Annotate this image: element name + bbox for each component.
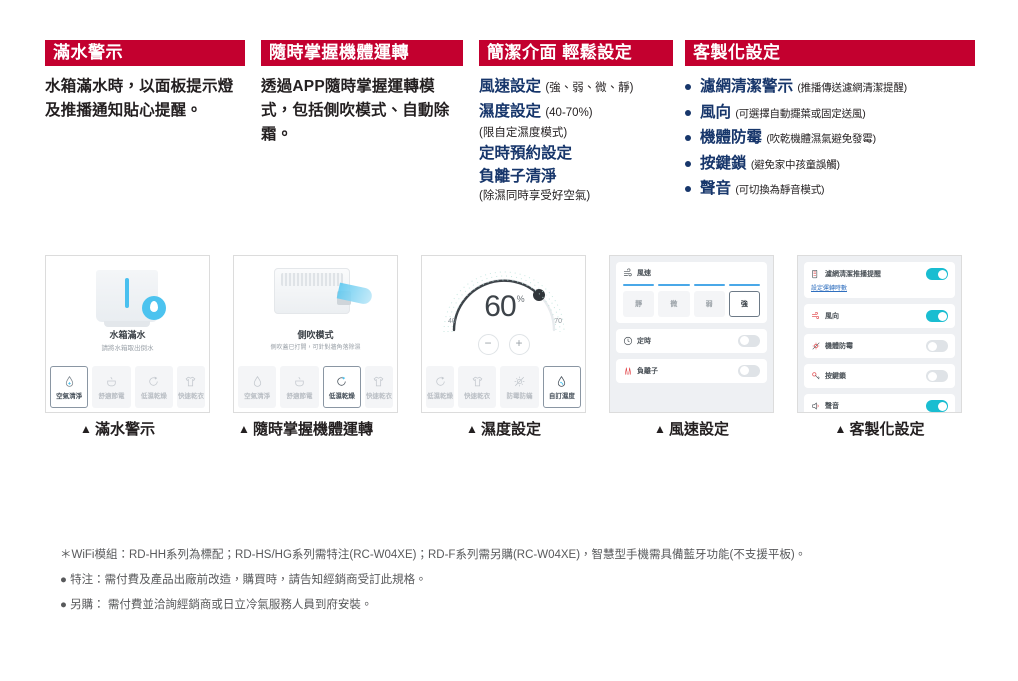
feature-description: 水箱滿水時，以面板提示燈及推播通知貼心提醒。 <box>45 75 245 123</box>
humidity-stepper: − + <box>422 334 585 355</box>
feature-body: 水箱滿水時，以面板提示燈及推播通知貼心提醒。 <box>45 75 245 123</box>
caption-label: 風速設定 <box>669 421 729 438</box>
feature-column-overflow-alert: 滿水警示 水箱滿水時，以面板提示燈及推播通知貼心提醒。 <box>45 40 245 205</box>
anti-mold-toggle[interactable] <box>926 340 948 352</box>
app-screen-fan-speed: 風速 靜 微 弱 強 定時 <box>609 255 774 413</box>
card-caption-tank-full: ▲滿水警示 <box>35 418 200 439</box>
mode-label: 低濕乾燥 <box>141 390 167 400</box>
water-level-indicator <box>125 278 129 308</box>
list-item: 定時預約設定 <box>479 142 673 165</box>
key-lock-label-group: 按鍵鎖 <box>811 371 846 381</box>
key-lock-row: 按鍵鎖 <box>811 370 948 382</box>
caption-label: 滿水警示 <box>95 421 155 438</box>
mode-button-fast-dry[interactable]: 快速乾衣 <box>365 366 393 408</box>
sound-panel: 聲音 <box>804 394 955 413</box>
feature-title-bar: 客製化設定 <box>685 40 975 66</box>
triangle-marker-icon: ▲ <box>80 422 92 436</box>
ion-icon <box>623 366 633 376</box>
screen-title: 水箱滿水 <box>46 328 209 341</box>
speed-button-low[interactable]: 弱 <box>694 291 725 317</box>
triangle-marker-icon: ▲ <box>835 422 847 436</box>
clock-icon <box>623 336 633 346</box>
unit-grill <box>281 273 343 286</box>
mode-button-bar: 低濕乾燥 快速乾衣 防霉防蟎 <box>422 366 585 408</box>
speed-track <box>623 284 760 286</box>
ion-label-group: 負離子 <box>623 366 658 376</box>
item-label: 聲音 <box>700 180 731 197</box>
feature-columns: 滿水警示 水箱滿水時，以面板提示燈及推播通知貼心提醒。 隨時掌握機體運轉 透過A… <box>45 40 985 205</box>
wind-label: 風向 <box>825 311 839 321</box>
screen-subtitle: 側吹蓋已打開，可針對牆角落除濕 <box>234 342 397 351</box>
shirt-icon <box>184 375 197 388</box>
sound-toggle[interactable] <box>926 400 948 412</box>
filter-reminder-toggle[interactable] <box>926 268 948 280</box>
dry-swirl-icon <box>434 375 447 388</box>
triangle-marker-icon: ▲ <box>654 422 666 436</box>
screen-title: 側吹模式 <box>234 328 397 341</box>
mode-label: 快速乾衣 <box>464 390 490 400</box>
speed-button-breeze[interactable]: 微 <box>658 291 689 317</box>
mode-label: 低濕乾燥 <box>427 390 453 400</box>
ion-toggle[interactable] <box>738 365 760 377</box>
mode-button-fast-dry[interactable]: 快速乾衣 <box>177 366 205 408</box>
shirt-icon <box>471 375 484 388</box>
filter-reminder-row: 濾網清潔推播提醒 <box>811 268 948 280</box>
fan-speed-header: 風速 <box>623 268 760 278</box>
wind-direction-toggle[interactable] <box>926 310 948 322</box>
humidity-increase-button[interactable]: + <box>509 334 530 355</box>
timer-label: 定時 <box>637 336 651 346</box>
timer-toggle[interactable] <box>738 335 760 347</box>
feature-column-remote-monitor: 隨時掌握機體運轉 透過APP隨時掌握運轉模式，包括側吹模式、自動除霜。 <box>261 40 463 205</box>
sound-label-group: 聲音 <box>811 401 839 411</box>
sound-label: 聲音 <box>825 401 839 411</box>
card-caption-humidity: ▲濕度設定 <box>421 418 586 439</box>
mode-button-custom-humidity[interactable]: 自訂濕度 <box>543 366 581 408</box>
list-item: 聲音 (可切換為靜音模式) <box>685 177 975 203</box>
mode-label: 舒適節電 <box>98 390 124 400</box>
key-lock-panel: 按鍵鎖 <box>804 364 955 388</box>
mode-label: 快速乾衣 <box>178 390 204 400</box>
feature-title-bar: 滿水警示 <box>45 40 245 66</box>
humidity-dial[interactable]: 60% 40 70 <box>436 262 572 338</box>
item-note: (40-70%) <box>545 107 592 119</box>
list-item-note: (限自定濕度模式) <box>479 125 673 142</box>
ion-row: 負離子 <box>623 365 760 377</box>
speed-button-silent[interactable]: 靜 <box>623 291 654 317</box>
item-label: 負離子清淨 <box>479 168 557 185</box>
wind-direction-row: 風向 <box>811 310 948 322</box>
item-label: 定時預約設定 <box>479 145 572 162</box>
mode-button-air-clean[interactable]: 空氣清淨 <box>50 366 88 408</box>
wind-icon <box>811 311 821 321</box>
key-lock-icon <box>811 371 821 381</box>
mode-label: 舒適節電 <box>286 390 312 400</box>
feature-title-bar: 簡潔介面 輕鬆設定 <box>479 40 673 66</box>
filter-label-group: 濾網清潔推播提醒 <box>811 269 881 279</box>
item-note: (可切換為靜音模式) <box>735 184 824 196</box>
list-item-note: (除濕同時享受好空氣) <box>479 188 673 205</box>
fan-speed-label: 風速 <box>637 268 651 278</box>
mode-button-air-clean[interactable]: 空氣清淨 <box>238 366 276 408</box>
anti-mold-row: 機體防霉 <box>811 340 948 352</box>
tank-illustration: 水箱滿水 請將水箱取出倒水 <box>46 256 209 361</box>
item-note: (可選擇自動擺葉或固定送風) <box>735 108 865 120</box>
footnote-special-order: ● 特注：需付費及產品出廠前改造，購買時，請告知經銷商受訂此規格。 <box>60 568 990 593</box>
footnote-separate-purchase: ● 另購： 需付費並洽詢經銷商或日立冷氣服務人員到府安裝。 <box>60 593 990 618</box>
mode-button-eco[interactable]: 舒適節電 <box>92 366 130 408</box>
list-item: 機體防霉 (吹乾機體濕氣避免發霉) <box>685 126 975 152</box>
filter-label: 濾網清潔推播提醒 <box>825 269 881 279</box>
key-lock-label: 按鍵鎖 <box>825 371 846 381</box>
list-item: 濾網清潔警示 (推播傳送濾網清潔提醒) <box>685 75 975 101</box>
anti-mold-icon <box>513 375 526 388</box>
list-item: 按鍵鎖 (避免家中孩童誤觸) <box>685 152 975 178</box>
triangle-marker-icon: ▲ <box>238 422 250 436</box>
caption-label: 客製化設定 <box>849 421 924 438</box>
mode-button-low-humidity[interactable]: 低濕乾燥 <box>426 366 454 408</box>
timer-label-group: 定時 <box>623 336 651 346</box>
key-lock-toggle[interactable] <box>926 370 948 382</box>
dry-swirl-icon <box>147 375 160 388</box>
list-item: 風速設定 (強、弱、微、靜) <box>479 75 673 100</box>
sound-row: 聲音 <box>811 400 948 412</box>
humidity-dial-area: 60% 40 70 − + <box>422 256 585 368</box>
list-item: 風向 (可選擇自動擺葉或固定送風) <box>685 101 975 127</box>
wind-label-group: 風向 <box>811 311 839 321</box>
mode-button-fast-dry[interactable]: 快速乾衣 <box>458 366 496 408</box>
humidity-unit: % <box>517 294 524 304</box>
card-caption-custom-settings: ▲客製化設定 <box>797 418 962 439</box>
mode-label: 快速乾衣 <box>366 390 392 400</box>
feature-column-custom-settings: 客製化設定 濾網清潔警示 (推播傳送濾網清潔提醒) 風向 (可選擇自動擺葉或固定… <box>685 40 975 205</box>
mode-button-anti-mold[interactable]: 防霉防蟎 <box>500 366 538 408</box>
mode-label: 空氣清淨 <box>56 390 82 400</box>
mode-label: 低濕乾燥 <box>329 390 355 400</box>
speed-button-high[interactable]: 強 <box>729 291 760 317</box>
feature-body: 透過APP隨時掌握運轉模式，包括側吹模式、自動除霜。 <box>261 75 463 147</box>
mode-button-eco[interactable]: 舒適節電 <box>280 366 318 408</box>
caption-label: 濕度設定 <box>481 421 541 438</box>
app-screen-humidity: 60% 40 70 − + 低濕乾燥 <box>421 255 586 413</box>
dial-max-label: 70 <box>554 318 562 325</box>
filter-reminder-panel: 濾網清潔推播提醒 設定運轉時數 <box>804 262 955 298</box>
anti-mold-label: 機體防霉 <box>825 341 853 351</box>
ion-panel: 負離子 <box>616 359 767 383</box>
wind-direction-panel: 風向 <box>804 304 955 328</box>
app-screen-tank-full: 水箱滿水 請將水箱取出倒水 空氣清淨 舒適節電 <box>45 255 210 413</box>
app-screenshot-row: 水箱滿水 請將水箱取出倒水 空氣清淨 舒適節電 <box>45 255 990 455</box>
shirt-icon <box>372 375 385 388</box>
water-drop-badge-icon <box>142 296 166 320</box>
anti-mold-panel: 機體防霉 <box>804 334 955 358</box>
item-label: 濕度設定 <box>479 103 541 120</box>
item-label: 風速設定 <box>479 78 541 95</box>
footnote-wifi: ＊WiFi模組：RD-HH系列為標配；RD-HS/HG系列需特注(RC-W04X… <box>60 543 990 568</box>
mode-button-bar: 空氣清淨 舒適節電 低濕乾燥 <box>46 366 209 408</box>
list-item: 負離子清淨 <box>479 165 673 188</box>
page-root: 滿水警示 水箱滿水時，以面板提示燈及推播通知貼心提醒。 隨時掌握機體運轉 透過A… <box>0 0 1018 681</box>
item-note: (避免家中孩童誤觸) <box>751 159 840 171</box>
dry-swirl-icon <box>335 375 348 388</box>
anti-mold-label-group: 機體防霉 <box>811 341 853 351</box>
item-label: 濾網清潔警示 <box>700 78 793 95</box>
speed-buttons: 靜 微 弱 強 <box>623 291 760 317</box>
ion-label: 負離子 <box>637 366 658 376</box>
caption-label: 隨時掌握機體運轉 <box>253 421 373 438</box>
cup-icon <box>105 375 118 388</box>
sound-icon <box>811 401 821 411</box>
humidity-number: 60 <box>484 290 515 323</box>
feature-title-bar: 隨時掌握機體運轉 <box>261 40 463 66</box>
item-note: (強、弱、微、靜) <box>545 82 633 94</box>
mode-button-bar: 空氣清淨 舒適節電 低濕乾燥 <box>234 366 397 408</box>
item-note: (吹乾機體濕氣避免發霉) <box>766 133 876 145</box>
feature-bullet-list: 濾網清潔警示 (推播傳送濾網清潔提醒) 風向 (可選擇自動擺葉或固定送風) 機體… <box>685 75 975 203</box>
mode-label: 自訂濕度 <box>549 390 575 400</box>
droplet-sparkle-icon <box>251 375 264 388</box>
anti-mold-icon <box>811 341 821 351</box>
humidity-decrease-button[interactable]: − <box>478 334 499 355</box>
feature-body: 風速設定 (強、弱、微、靜) 濕度設定 (40-70%) (限自定濕度模式) 定… <box>479 75 673 205</box>
footnotes: ＊WiFi模組：RD-HH系列為標配；RD-HS/HG系列需特注(RC-W04X… <box>60 543 990 618</box>
card-caption-side-blow: ▲隨時掌握機體運轉 <box>223 418 388 439</box>
unit-illustration: 側吹模式 側吹蓋已打開，可針對牆角落除濕 <box>234 256 397 361</box>
mode-button-low-humidity[interactable]: 低濕乾燥 <box>323 366 361 408</box>
filter-hours-link[interactable]: 設定運轉時數 <box>811 283 948 292</box>
mode-label: 空氣清淨 <box>244 390 270 400</box>
dial-min-label: 40 <box>448 318 456 325</box>
item-label: 機體防霉 <box>700 129 762 146</box>
cup-icon <box>293 375 306 388</box>
feature-body: 濾網清潔警示 (推播傳送濾網清潔提醒) 風向 (可選擇自動擺葉或固定送風) 機體… <box>685 75 975 203</box>
app-screen-custom-settings: 濾網清潔推播提醒 設定運轉時數 風向 <box>797 255 962 413</box>
list-item: 濕度設定 (40-70%) <box>479 100 673 125</box>
feature-column-simple-interface: 簡潔介面 輕鬆設定 風速設定 (強、弱、微、靜) 濕度設定 (40-70%) (… <box>479 40 673 205</box>
droplet-percent-icon <box>555 375 568 388</box>
mode-label: 防霉防蟎 <box>506 390 532 400</box>
screen-subtitle: 請將水箱取出倒水 <box>46 342 209 352</box>
fan-speed-icon <box>623 268 633 278</box>
item-label: 按鍵鎖 <box>700 155 747 172</box>
feature-description: 透過APP隨時掌握運轉模式，包括側吹模式、自動除霜。 <box>261 75 463 147</box>
triangle-marker-icon: ▲ <box>466 422 478 436</box>
timer-row: 定時 <box>623 335 760 347</box>
filter-icon <box>811 269 821 279</box>
droplet-sparkle-icon <box>63 375 76 388</box>
fan-speed-panel: 風速 靜 微 弱 強 <box>616 262 767 323</box>
humidity-value: 60% <box>436 290 572 324</box>
item-label: 風向 <box>700 104 731 121</box>
mode-button-low-humidity[interactable]: 低濕乾燥 <box>135 366 173 408</box>
feature-item-list: 風速設定 (強、弱、微、靜) 濕度設定 (40-70%) (限自定濕度模式) 定… <box>479 75 673 205</box>
item-note: (推播傳送濾網清潔提醒) <box>797 82 907 94</box>
card-caption-fan-speed: ▲風速設定 <box>609 418 774 439</box>
timer-panel: 定時 <box>616 329 767 353</box>
app-screen-side-blow: 側吹模式 側吹蓋已打開，可針對牆角落除濕 空氣清淨 舒適節電 <box>233 255 398 413</box>
